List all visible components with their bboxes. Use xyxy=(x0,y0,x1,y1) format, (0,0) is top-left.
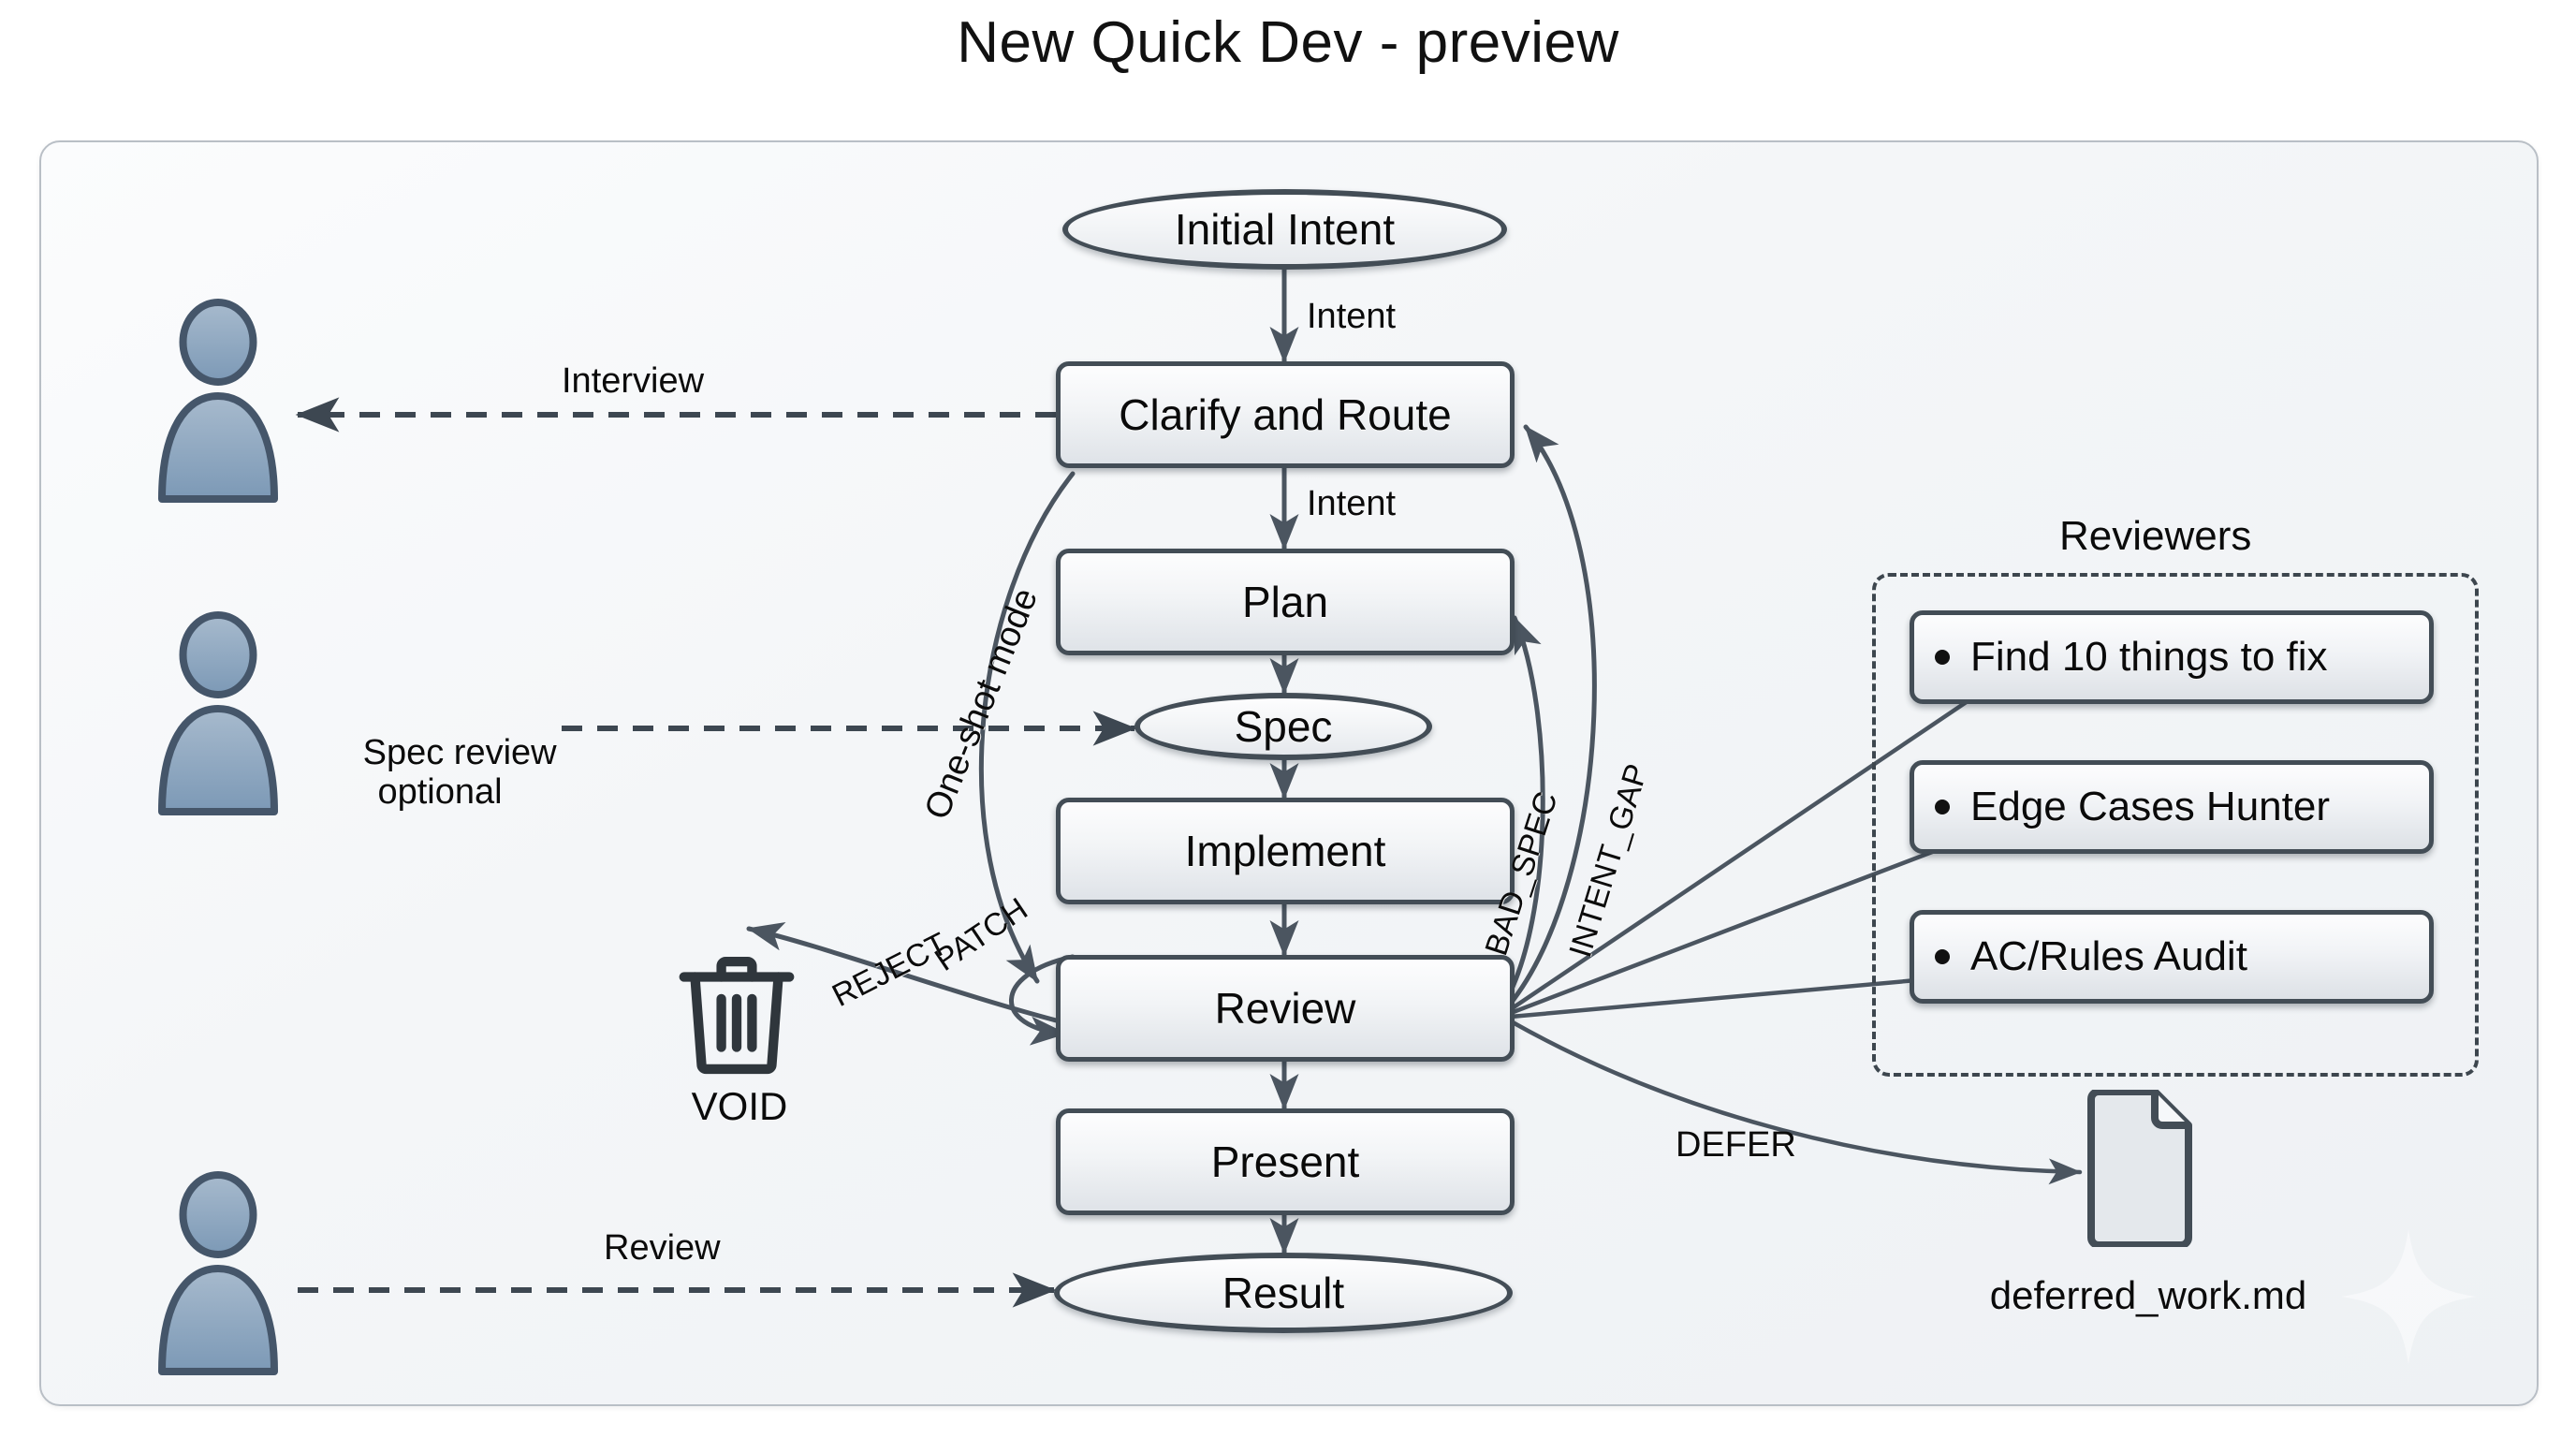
actor-review[interactable] xyxy=(148,1170,288,1386)
node-label: Spec xyxy=(1235,701,1333,752)
deferred-work-label: deferred_work.md xyxy=(1928,1273,2368,1318)
edge-label-intent-1: Intent xyxy=(1307,297,1396,337)
node-clarify-and-route[interactable]: Clarify and Route xyxy=(1056,361,1515,468)
deferred-work-artifact[interactable] xyxy=(2080,1090,2211,1258)
node-label: Present xyxy=(1211,1137,1360,1187)
node-implement[interactable]: Implement xyxy=(1056,798,1515,904)
edge-label-review-actor: Review xyxy=(604,1228,721,1269)
actor-interview[interactable] xyxy=(148,298,288,513)
actor-spec-review[interactable] xyxy=(148,610,288,826)
diagram-stage: New Quick Dev - preview xyxy=(0,0,2576,1438)
bullet-icon xyxy=(1935,650,1950,665)
node-initial-intent[interactable]: Initial Intent xyxy=(1062,189,1507,270)
reviewers-group-title: Reviewers xyxy=(2059,513,2251,560)
node-plan[interactable]: Plan xyxy=(1056,549,1515,655)
reviewer-label: Find 10 things to fix xyxy=(1970,634,2328,681)
person-icon xyxy=(148,1170,288,1386)
node-label: Initial Intent xyxy=(1175,204,1395,255)
person-icon xyxy=(148,298,288,513)
node-label: Implement xyxy=(1185,826,1386,876)
reviewer-item-find-10-things-to-fix[interactable]: Find 10 things to fix xyxy=(1910,610,2434,704)
bullet-icon xyxy=(1935,800,1950,814)
reviewer-label: Edge Cases Hunter xyxy=(1970,784,2330,830)
node-present[interactable]: Present xyxy=(1056,1108,1515,1215)
document-icon xyxy=(2080,1090,2200,1247)
trash-icon xyxy=(666,942,807,1082)
reviewer-item-edge-cases-hunter[interactable]: Edge Cases Hunter xyxy=(1910,760,2434,854)
reviewer-item-ac-rules-audit[interactable]: AC/Rules Audit xyxy=(1910,910,2434,1004)
edge-label-interview: Interview xyxy=(562,361,704,402)
void-label: VOID xyxy=(646,1084,833,1129)
node-result[interactable]: Result xyxy=(1054,1253,1513,1333)
node-label: Clarify and Route xyxy=(1119,389,1451,440)
edge-label-intent-2: Intent xyxy=(1307,484,1396,524)
person-icon xyxy=(148,610,288,826)
edge-label-spec-review-optional: Spec review optional xyxy=(300,693,580,852)
page-title: New Quick Dev - preview xyxy=(0,9,2576,76)
edge-label-defer: DEFER xyxy=(1676,1125,1796,1166)
node-label: Result xyxy=(1222,1268,1344,1318)
node-label: Plan xyxy=(1242,577,1328,627)
node-label: Review xyxy=(1215,983,1356,1034)
edge-label-text: Spec review optional xyxy=(363,733,557,813)
node-review[interactable]: Review xyxy=(1056,955,1515,1062)
node-spec[interactable]: Spec xyxy=(1134,693,1432,760)
reviewer-label: AC/Rules Audit xyxy=(1970,933,2247,980)
bullet-icon xyxy=(1935,949,1950,964)
